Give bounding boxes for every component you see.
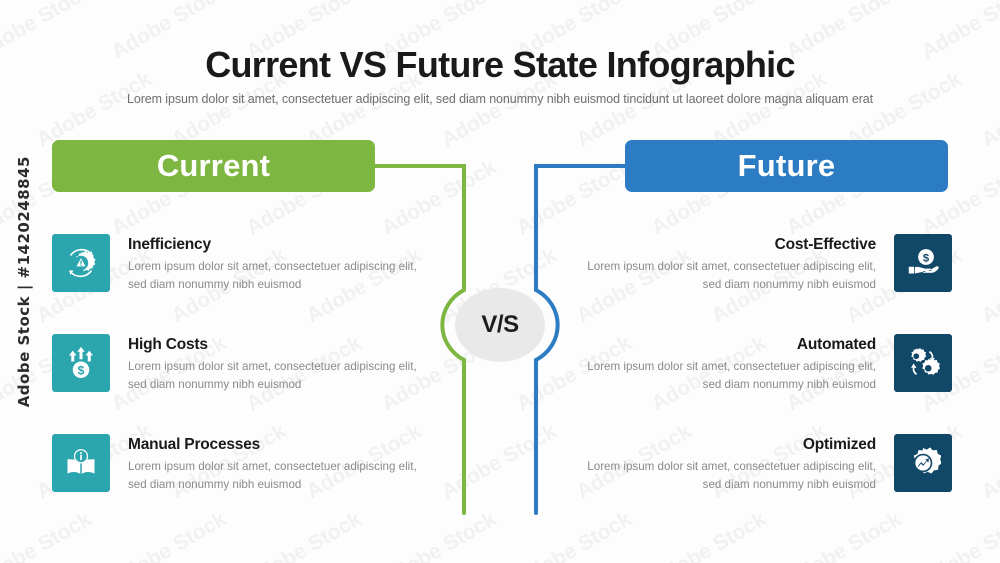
watermark-tile: Adobe Stock [978, 420, 1000, 505]
watermark-label: Adobe Stock | #1420248845 [15, 156, 33, 407]
svg-text:$: $ [923, 253, 930, 265]
list-item-automated[interactable]: Automated Lorem ipsum dolor sit amet, co… [570, 334, 952, 394]
infographic-canvas: Adobe StockAdobe StockAdobe StockAdobe S… [0, 0, 1000, 563]
open-book-info-icon [52, 434, 110, 492]
item-title: High Costs [128, 336, 428, 353]
watermark-tile: Adobe Stock [0, 508, 96, 563]
svg-text:$: $ [78, 364, 85, 378]
watermark-tile: Adobe Stock [438, 420, 561, 505]
banner-future-label: Future [738, 148, 836, 184]
banner-current-label: Current [157, 148, 270, 184]
watermark-tile: Adobe Stock [108, 508, 231, 563]
item-title: Cost-Effective [576, 236, 876, 253]
watermark-tile: Adobe Stock [513, 508, 636, 563]
versus-label: V/S [481, 311, 518, 339]
watermark-tile: Adobe Stock [918, 508, 1000, 563]
watermark-tile: Adobe Stock [513, 156, 636, 241]
versus-badge: V/S [455, 288, 545, 362]
watermark-tile: Adobe Stock [648, 508, 771, 563]
page-title: Current VS Future State Infographic [0, 44, 1000, 86]
list-item-inefficiency[interactable]: Inefficiency Lorem ipsum dolor sit amet,… [52, 234, 432, 294]
watermark-tile: Adobe Stock [978, 244, 1000, 329]
item-title: Automated [576, 336, 876, 353]
page-subtitle: Lorem ipsum dolor sit amet, consectetuer… [0, 92, 1000, 106]
item-description: Lorem ipsum dolor sit amet, consectetuer… [128, 458, 428, 494]
item-title: Optimized [576, 436, 876, 453]
item-description: Lorem ipsum dolor sit amet, consectetuer… [128, 358, 428, 394]
item-description: Lorem ipsum dolor sit amet, consectetuer… [576, 458, 876, 494]
item-description: Lorem ipsum dolor sit amet, consectetuer… [576, 358, 876, 394]
item-description: Lorem ipsum dolor sit amet, consectetuer… [576, 258, 876, 294]
watermark-tile: Adobe Stock [378, 156, 501, 241]
gears-refresh-icon [894, 334, 952, 392]
item-title: Inefficiency [128, 236, 428, 253]
list-item-high-costs[interactable]: $ High Costs Lorem ipsum dolor sit amet,… [52, 334, 432, 394]
banner-current[interactable]: Current [52, 140, 375, 192]
watermark-tile: Adobe Stock [783, 508, 906, 563]
watermark-tile: Adobe Stock [378, 508, 501, 563]
hand-holding-coin-icon: $ [894, 234, 952, 292]
item-description: Lorem ipsum dolor sit amet, consectetuer… [128, 258, 428, 294]
list-item-optimized[interactable]: Optimized Lorem ipsum dolor sit amet, co… [570, 434, 952, 494]
item-title: Manual Processes [128, 436, 428, 453]
watermark-tile: Adobe Stock [243, 508, 366, 563]
list-item-cost-effective[interactable]: $ Cost-Effective Lorem ipsum dolor sit a… [570, 234, 952, 294]
list-item-manual-processes[interactable]: Manual Processes Lorem ipsum dolor sit a… [52, 434, 432, 494]
banner-future[interactable]: Future [625, 140, 948, 192]
gear-warning-icon [52, 234, 110, 292]
rising-cost-coin-icon: $ [52, 334, 110, 392]
gear-growth-arrow-icon [894, 434, 952, 492]
